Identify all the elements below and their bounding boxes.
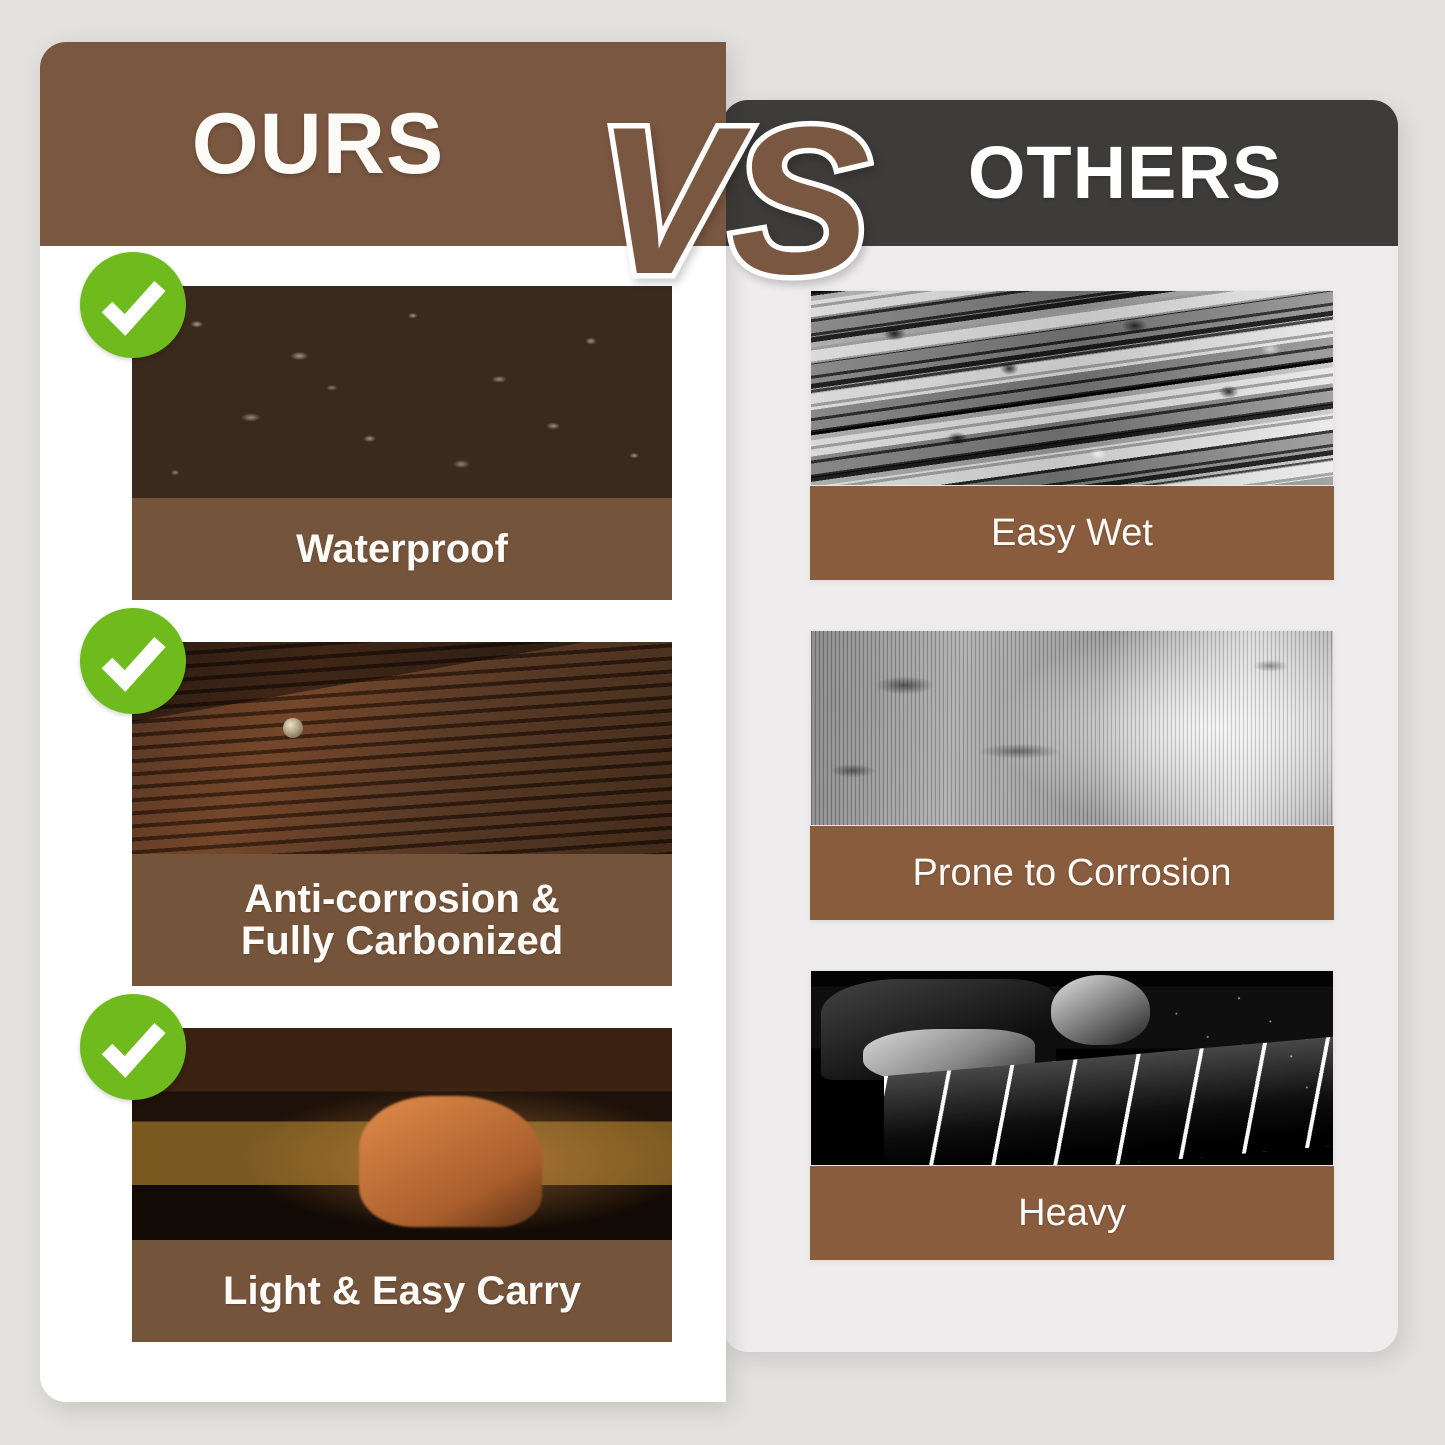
grayscale-wet-deck-photo — [810, 290, 1334, 486]
check-mark-icon — [80, 994, 186, 1100]
others-card-easy-wet: Easy Wet — [810, 290, 1334, 580]
comparison-infographic: OTHERS Easy Wet Prone to Corrosion — [0, 0, 1445, 1445]
ours-caption-line-1: Anti-corrosion & — [244, 877, 560, 921]
ours-panel: OURS Waterproof — [40, 42, 726, 1402]
others-header: OTHERS — [722, 100, 1398, 246]
ours-header: OURS — [40, 42, 726, 246]
check-mark-icon — [80, 608, 186, 714]
others-card-list: Easy Wet Prone to Corrosion — [722, 246, 1398, 1260]
others-card-prone-to-corrosion: Prone to Corrosion — [810, 630, 1334, 920]
ours-title: OURS — [192, 101, 574, 187]
wet-brown-deck-photo — [132, 286, 672, 498]
ours-card-light-easy-carry: Light & Easy Carry — [132, 1028, 672, 1342]
grayscale-corroded-plank-photo — [810, 630, 1334, 826]
check-mark-icon — [80, 252, 186, 358]
ours-card-list: Waterproof Anti-corrosion & Fully Carbon… — [40, 246, 726, 1342]
ours-card-waterproof: Waterproof — [132, 286, 672, 600]
ours-caption-line-2: Fully Carbonized — [241, 919, 563, 963]
hand-carrying-table-photo — [132, 1028, 672, 1240]
ours-caption: Light & Easy Carry — [132, 1240, 672, 1342]
others-card-heavy: Heavy — [810, 970, 1334, 1260]
others-panel: OTHERS Easy Wet Prone to Corrosion — [722, 100, 1398, 1352]
grayscale-worker-lifting-photo — [810, 970, 1334, 1166]
others-title: OTHERS — [838, 136, 1282, 210]
others-caption: Prone to Corrosion — [810, 826, 1334, 920]
others-caption: Easy Wet — [810, 486, 1334, 580]
ours-caption: Waterproof — [132, 498, 672, 600]
ours-card-anti-corrosion: Anti-corrosion & Fully Carbonized — [132, 642, 672, 986]
carbonized-wood-joint-photo — [132, 642, 672, 854]
others-caption: Heavy — [810, 1166, 1334, 1260]
ours-caption: Anti-corrosion & Fully Carbonized — [132, 854, 672, 986]
